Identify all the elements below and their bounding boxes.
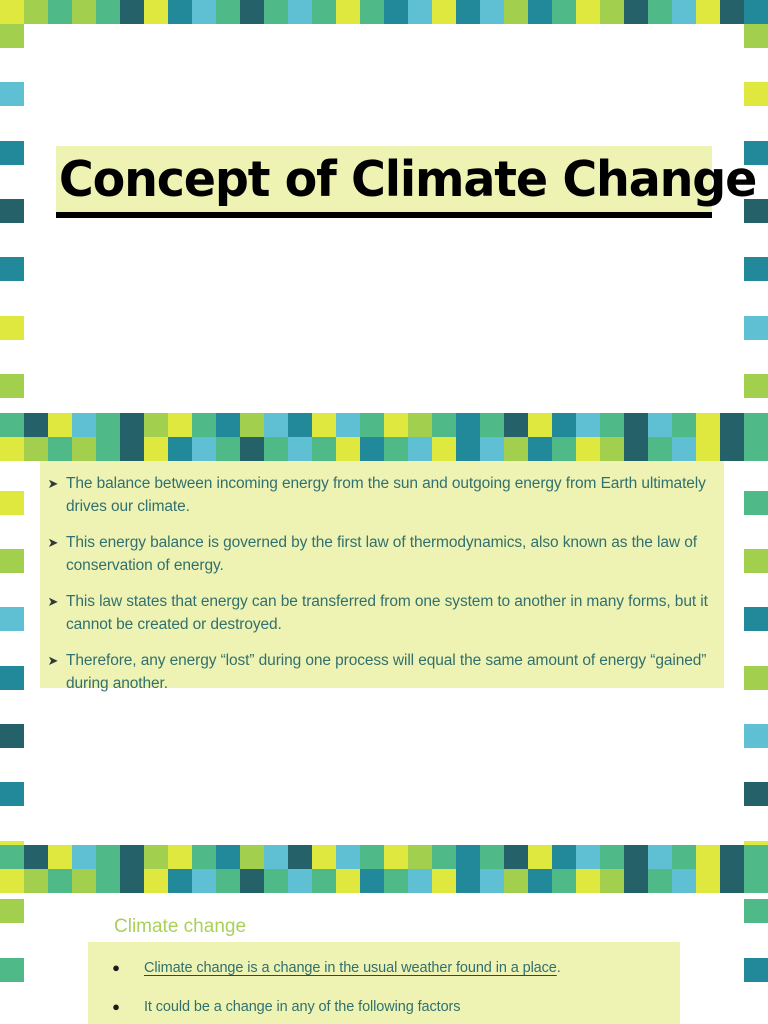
decorative-band-middle xyxy=(0,413,768,461)
decorative-tile xyxy=(192,845,216,869)
decorative-tile xyxy=(528,413,552,437)
decorative-tile xyxy=(552,0,576,24)
decorative-tile xyxy=(24,437,48,461)
decorative-tile xyxy=(96,437,120,461)
decorative-tile xyxy=(408,0,432,24)
bullet-item: ➤Therefore, any energy “lost” during one… xyxy=(40,650,710,695)
decorative-tile xyxy=(96,413,120,437)
decorative-tile xyxy=(360,845,384,869)
dot-bullet-icon: ● xyxy=(88,997,144,1017)
decorative-tile xyxy=(672,869,696,893)
decorative-tile xyxy=(264,845,288,869)
decorative-tile xyxy=(96,0,120,24)
decorative-tile xyxy=(624,0,648,24)
decorative-tile xyxy=(744,0,768,24)
decorative-tile xyxy=(144,869,168,893)
decorative-tile xyxy=(336,413,360,437)
decorative-tile xyxy=(624,869,648,893)
decorative-tile xyxy=(720,413,744,437)
decorative-tile xyxy=(696,845,720,869)
decorative-tile xyxy=(0,491,24,515)
decorative-tile xyxy=(336,0,360,24)
decorative-tile xyxy=(744,374,768,398)
decorative-tile xyxy=(720,437,744,461)
decorative-tile xyxy=(192,869,216,893)
decorative-tile xyxy=(384,869,408,893)
decorative-tile xyxy=(24,413,48,437)
decorative-tile xyxy=(24,869,48,893)
decorative-tile xyxy=(240,437,264,461)
decorative-tile xyxy=(504,845,528,869)
decorative-tile xyxy=(0,413,24,437)
decorative-tile xyxy=(240,845,264,869)
decorative-tile xyxy=(456,437,480,461)
decorative-tile xyxy=(408,413,432,437)
decorative-tile xyxy=(744,899,768,923)
decorative-tile xyxy=(216,413,240,437)
decorative-tile xyxy=(120,437,144,461)
decorative-tile xyxy=(0,607,24,631)
decorative-tile xyxy=(528,869,552,893)
decorative-tile xyxy=(48,437,72,461)
bullet-item: ➤This energy balance is governed by the … xyxy=(40,532,710,577)
decorative-tile xyxy=(312,0,336,24)
decorative-tile xyxy=(0,82,24,106)
decorative-tile xyxy=(48,869,72,893)
decorative-tile xyxy=(0,958,24,982)
bullet-text: The balance between incoming energy from… xyxy=(66,473,710,518)
decorative-tile xyxy=(744,437,768,461)
decorative-tile xyxy=(336,845,360,869)
decorative-tile xyxy=(0,374,24,398)
decorative-tile xyxy=(456,413,480,437)
decorative-band-top xyxy=(0,0,768,24)
decorative-tile xyxy=(480,0,504,24)
decorative-tile xyxy=(0,845,24,869)
decorative-tile xyxy=(624,845,648,869)
decorative-tile xyxy=(744,82,768,106)
decorative-tile xyxy=(720,0,744,24)
decorative-tile xyxy=(96,869,120,893)
list-item: ●It could be a change in any of the foll… xyxy=(88,997,670,1017)
list-item-text: Climate change is a change in the usual … xyxy=(144,958,670,978)
slide-title-block: Concept of Climate Change xyxy=(56,146,712,218)
decorative-tile xyxy=(480,845,504,869)
decorative-tile xyxy=(360,437,384,461)
decorative-tile xyxy=(744,413,768,437)
decorative-tile xyxy=(216,845,240,869)
decorative-tile xyxy=(744,724,768,748)
page-title: Concept of Climate Change xyxy=(56,155,756,204)
energy-balance-bullet-list: ➤The balance between incoming energy fro… xyxy=(40,473,710,695)
decorative-tile xyxy=(24,0,48,24)
arrow-bullet-icon: ➤ xyxy=(40,532,66,555)
decorative-tile xyxy=(120,0,144,24)
decorative-tile xyxy=(336,869,360,893)
decorative-tile xyxy=(312,845,336,869)
decorative-tile xyxy=(168,0,192,24)
decorative-tile xyxy=(0,24,24,48)
decorative-tile xyxy=(744,24,768,48)
decorative-tile xyxy=(408,845,432,869)
decorative-tile xyxy=(144,437,168,461)
bullet-item: ➤The balance between incoming energy fro… xyxy=(40,473,710,518)
decorative-tile xyxy=(576,413,600,437)
decorative-tile xyxy=(432,0,456,24)
decorative-tile xyxy=(0,257,24,281)
decorative-tile xyxy=(360,0,384,24)
decorative-tile xyxy=(72,0,96,24)
decorative-tile xyxy=(624,413,648,437)
decorative-tile xyxy=(648,845,672,869)
list-item: ●Climate change is a change in the usual… xyxy=(88,958,670,978)
decorative-tile xyxy=(120,869,144,893)
decorative-tile xyxy=(408,869,432,893)
decorative-tile xyxy=(312,869,336,893)
decorative-tile xyxy=(504,413,528,437)
decorative-tile xyxy=(144,0,168,24)
decorative-tile xyxy=(0,899,24,923)
decorative-tile xyxy=(216,869,240,893)
decorative-tile xyxy=(600,413,624,437)
decorative-tile xyxy=(552,437,576,461)
climate-change-content-box: ●Climate change is a change in the usual… xyxy=(88,942,680,1024)
decorative-tile xyxy=(624,437,648,461)
climate-change-heading: Climate change xyxy=(114,915,246,939)
decorative-tile xyxy=(360,869,384,893)
arrow-bullet-icon: ➤ xyxy=(40,473,66,496)
decorative-tile xyxy=(744,782,768,806)
decorative-band-bottom xyxy=(0,845,768,893)
decorative-tile xyxy=(72,413,96,437)
decorative-tile xyxy=(600,0,624,24)
decorative-tile xyxy=(696,437,720,461)
decorative-tile xyxy=(456,845,480,869)
decorative-tile xyxy=(600,869,624,893)
decorative-tile xyxy=(312,413,336,437)
decorative-tile xyxy=(384,845,408,869)
decorative-tile xyxy=(0,724,24,748)
decorative-tile xyxy=(0,666,24,690)
decorative-tile xyxy=(216,0,240,24)
decorative-tile xyxy=(720,869,744,893)
decorative-tile xyxy=(48,0,72,24)
decorative-tile xyxy=(696,0,720,24)
decorative-tile xyxy=(288,869,312,893)
decorative-tile xyxy=(696,413,720,437)
decorative-tile xyxy=(168,869,192,893)
decorative-tile xyxy=(600,437,624,461)
decorative-tile xyxy=(600,845,624,869)
decorative-tile xyxy=(360,413,384,437)
decorative-tile xyxy=(192,0,216,24)
decorative-tile xyxy=(744,491,768,515)
decorative-tile xyxy=(48,845,72,869)
decorative-tile xyxy=(744,607,768,631)
decorative-tile xyxy=(216,437,240,461)
decorative-tile xyxy=(648,0,672,24)
decorative-tile xyxy=(648,413,672,437)
decorative-tile xyxy=(432,437,456,461)
arrow-bullet-icon: ➤ xyxy=(40,650,66,673)
decorative-tile xyxy=(480,869,504,893)
decorative-tile xyxy=(288,437,312,461)
decorative-tile xyxy=(72,845,96,869)
decorative-tile xyxy=(672,437,696,461)
decorative-tile xyxy=(504,0,528,24)
slide-page: Concept of Climate Change ➤The balance b… xyxy=(0,0,768,1024)
decorative-tile xyxy=(168,413,192,437)
decorative-tile xyxy=(0,782,24,806)
decorative-tile xyxy=(696,869,720,893)
decorative-tile xyxy=(0,0,24,24)
decorative-tile xyxy=(744,549,768,573)
decorative-tile xyxy=(672,845,696,869)
decorative-tile xyxy=(240,413,264,437)
bullet-text: This law states that energy can be trans… xyxy=(66,591,710,636)
decorative-tile xyxy=(552,869,576,893)
decorative-tile xyxy=(48,413,72,437)
decorative-tile xyxy=(192,413,216,437)
decorative-tile xyxy=(744,845,768,869)
decorative-tile xyxy=(264,0,288,24)
decorative-tile xyxy=(0,316,24,340)
decorative-tile xyxy=(192,437,216,461)
decorative-tile xyxy=(336,437,360,461)
underlined-phrase: Climate change is a change in the usual … xyxy=(144,960,557,976)
decorative-tile xyxy=(96,845,120,869)
decorative-tile xyxy=(120,845,144,869)
decorative-tile xyxy=(648,869,672,893)
bullet-item: ➤This law states that energy can be tran… xyxy=(40,591,710,636)
decorative-tile xyxy=(168,437,192,461)
decorative-tile xyxy=(744,666,768,690)
dot-bullet-icon: ● xyxy=(88,958,144,978)
decorative-tile xyxy=(120,413,144,437)
decorative-tile xyxy=(672,0,696,24)
decorative-tile xyxy=(264,413,288,437)
decorative-tile xyxy=(456,0,480,24)
decorative-tile xyxy=(720,845,744,869)
decorative-tile xyxy=(0,869,24,893)
decorative-tile xyxy=(144,413,168,437)
decorative-tile xyxy=(504,437,528,461)
decorative-tile xyxy=(432,413,456,437)
decorative-tile xyxy=(384,437,408,461)
climate-change-bullet-list: ●Climate change is a change in the usual… xyxy=(88,958,670,1017)
decorative-tile xyxy=(384,0,408,24)
list-item-text: It could be a change in any of the follo… xyxy=(144,997,670,1017)
decorative-tile xyxy=(384,413,408,437)
decorative-tile xyxy=(288,413,312,437)
decorative-tile xyxy=(648,437,672,461)
decorative-tile xyxy=(744,958,768,982)
decorative-tile xyxy=(24,845,48,869)
decorative-tile xyxy=(576,845,600,869)
decorative-tile xyxy=(288,845,312,869)
decorative-tile xyxy=(240,0,264,24)
decorative-tile xyxy=(528,0,552,24)
decorative-tile xyxy=(408,437,432,461)
decorative-tile xyxy=(72,437,96,461)
decorative-tile xyxy=(576,437,600,461)
decorative-tile xyxy=(552,413,576,437)
decorative-tile xyxy=(504,869,528,893)
decorative-tile xyxy=(744,257,768,281)
decorative-tile xyxy=(312,437,336,461)
decorative-tile xyxy=(0,437,24,461)
energy-balance-content-box: ➤The balance between incoming energy fro… xyxy=(40,461,724,688)
decorative-tile xyxy=(528,845,552,869)
decorative-tile xyxy=(240,869,264,893)
decorative-tile xyxy=(264,437,288,461)
bullet-text: Therefore, any energy “lost” during one … xyxy=(66,650,710,695)
decorative-tile xyxy=(744,316,768,340)
decorative-tile xyxy=(144,845,168,869)
decorative-tile xyxy=(552,845,576,869)
decorative-tile xyxy=(432,869,456,893)
decorative-tile xyxy=(72,869,96,893)
decorative-tile xyxy=(744,869,768,893)
decorative-tile xyxy=(456,869,480,893)
decorative-tile xyxy=(432,845,456,869)
decorative-tile xyxy=(168,845,192,869)
bullet-text: This energy balance is governed by the f… xyxy=(66,532,710,577)
decorative-tile xyxy=(0,549,24,573)
decorative-tile xyxy=(0,141,24,165)
decorative-tile xyxy=(576,0,600,24)
decorative-tile xyxy=(288,0,312,24)
decorative-tile xyxy=(0,199,24,223)
decorative-tile xyxy=(480,413,504,437)
decorative-tile xyxy=(576,869,600,893)
decorative-tile xyxy=(264,869,288,893)
arrow-bullet-icon: ➤ xyxy=(40,591,66,614)
decorative-tile xyxy=(672,413,696,437)
decorative-tile xyxy=(480,437,504,461)
decorative-tile xyxy=(528,437,552,461)
